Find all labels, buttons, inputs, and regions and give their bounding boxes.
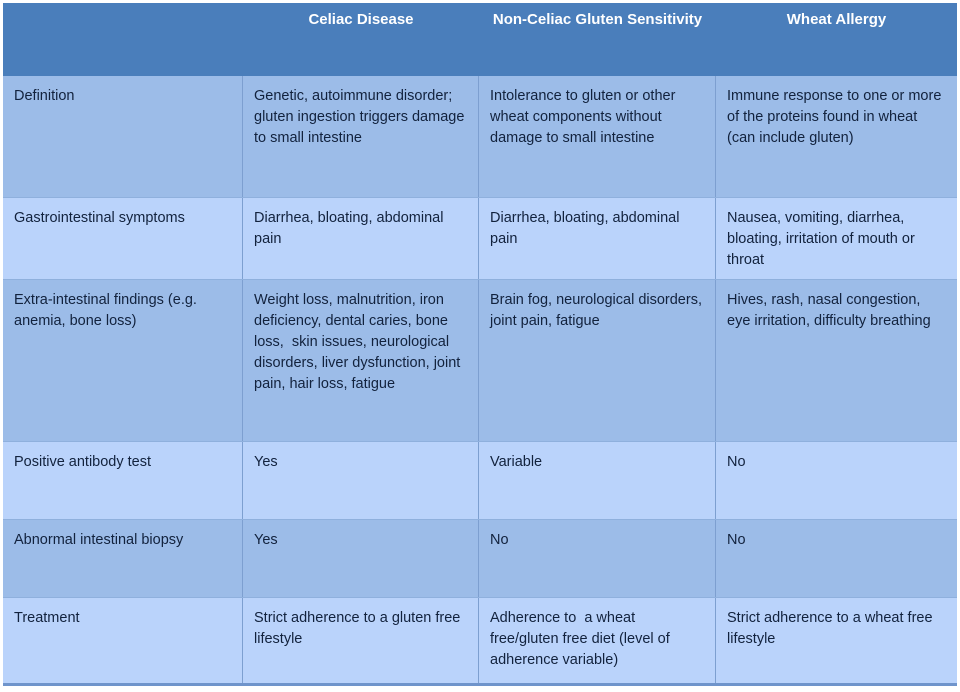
- row-label-treatment: Treatment: [3, 598, 243, 683]
- table-row: Definition Genetic, autoimmune disorder;…: [3, 76, 957, 198]
- table-row: Extra-intestinal findings (e.g. anemia, …: [3, 280, 957, 442]
- comparison-table: Celiac Disease Non-Celiac Gluten Sensiti…: [0, 0, 960, 692]
- row-label-abnormal-intestinal-biopsy: Abnormal intestinal biopsy: [3, 520, 243, 597]
- table-row: Positive antibody test Yes Variable No: [3, 442, 957, 520]
- row-label-positive-antibody-test: Positive antibody test: [3, 442, 243, 519]
- cell-extra-ncgs: Brain fog, neurological disorders, joint…: [479, 280, 716, 441]
- cell-biopsy-wheat-allergy: No: [716, 520, 957, 597]
- cell-gi-ncgs: Diarrhea, bloating, abdominal pain: [479, 198, 716, 279]
- cell-definition-ncgs: Intolerance to gluten or other wheat com…: [479, 76, 716, 197]
- cell-definition-celiac: Genetic, autoimmune disorder; gluten ing…: [243, 76, 479, 197]
- cell-antibody-ncgs: Variable: [479, 442, 716, 519]
- row-label-gastrointestinal-symptoms: Gastrointestinal symptoms: [3, 198, 243, 279]
- row-label-definition: Definition: [3, 76, 243, 197]
- table-row: Treatment Strict adherence to a gluten f…: [3, 598, 957, 686]
- table-row: Gastrointestinal symptoms Diarrhea, bloa…: [3, 198, 957, 280]
- cell-extra-celiac: Weight loss, malnutrition, iron deficien…: [243, 280, 479, 441]
- cell-biopsy-ncgs: No: [479, 520, 716, 597]
- table-header-cell-non-celiac-gluten-sensitivity: Non-Celiac Gluten Sensitivity: [479, 3, 716, 76]
- table-row: Abnormal intestinal biopsy Yes No No: [3, 520, 957, 598]
- cell-treatment-celiac: Strict adherence to a gluten free lifest…: [243, 598, 479, 683]
- cell-gi-wheat-allergy: Nausea, vomiting, diarrhea, bloating, ir…: [716, 198, 957, 279]
- table-header-cell-wheat-allergy: Wheat Allergy: [716, 3, 957, 76]
- cell-treatment-ncgs: Adherence to a wheat free/gluten free di…: [479, 598, 716, 683]
- cell-gi-celiac: Diarrhea, bloating, abdominal pain: [243, 198, 479, 279]
- table-header-row: Celiac Disease Non-Celiac Gluten Sensiti…: [0, 0, 960, 76]
- table-header-cell-blank: [3, 3, 243, 76]
- cell-biopsy-celiac: Yes: [243, 520, 479, 597]
- table-body: Definition Genetic, autoimmune disorder;…: [0, 76, 960, 689]
- cell-antibody-wheat-allergy: No: [716, 442, 957, 519]
- table-header-cell-celiac-disease: Celiac Disease: [243, 3, 479, 76]
- cell-extra-wheat-allergy: Hives, rash, nasal congestion, eye irrit…: [716, 280, 957, 441]
- cell-definition-wheat-allergy: Immune response to one or more of the pr…: [716, 76, 957, 197]
- cell-antibody-celiac: Yes: [243, 442, 479, 519]
- cell-treatment-wheat-allergy: Strict adherence to a wheat free lifesty…: [716, 598, 957, 683]
- row-label-extra-intestinal-findings: Extra-intestinal findings (e.g. anemia, …: [3, 280, 243, 441]
